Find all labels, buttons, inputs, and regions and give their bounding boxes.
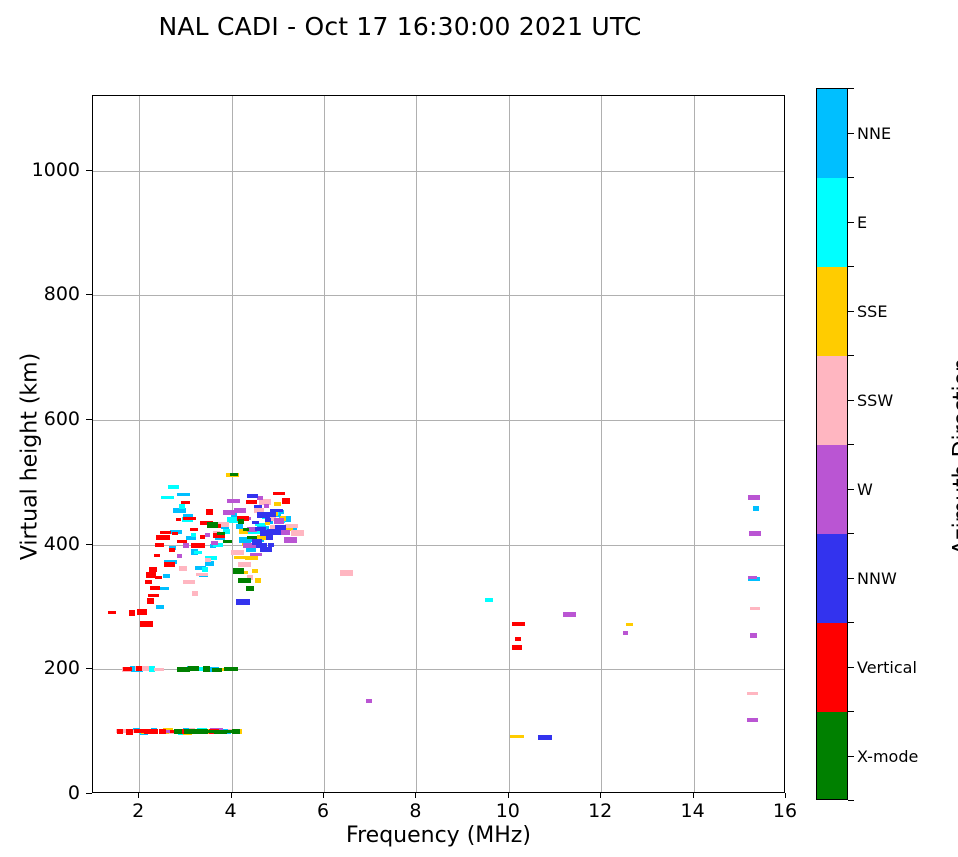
data-mark	[168, 485, 179, 489]
colorbar-label-nnw: NNW	[857, 569, 897, 588]
data-mark	[563, 612, 576, 617]
data-mark	[510, 735, 524, 738]
data-mark	[275, 525, 286, 530]
data-mark	[231, 550, 244, 555]
data-mark	[273, 492, 285, 495]
colorbar-tick	[848, 222, 854, 223]
data-mark	[512, 645, 522, 650]
colorbar-boundary-tick	[848, 622, 854, 623]
data-mark	[176, 518, 181, 521]
data-mark	[366, 699, 372, 703]
plot-area	[92, 95, 785, 793]
data-mark	[137, 609, 147, 615]
colorbar-label-nne: NNE	[857, 124, 891, 143]
data-mark	[155, 576, 162, 579]
data-mark	[191, 543, 205, 548]
data-mark	[747, 692, 758, 695]
colorbar-tick	[848, 133, 854, 134]
y-axis-tick	[86, 419, 92, 420]
colorbar-tick	[848, 311, 854, 312]
data-mark	[217, 532, 225, 535]
data-mark	[247, 494, 258, 498]
y-axis-tick	[86, 294, 92, 295]
x-axis-tick	[231, 793, 232, 798]
data-mark	[160, 531, 171, 534]
data-mark	[227, 499, 240, 503]
data-mark	[140, 621, 153, 627]
data-mark	[750, 607, 760, 610]
data-mark	[188, 666, 199, 671]
colorbar-label-vertical: Vertical	[857, 658, 917, 677]
data-mark	[156, 605, 164, 609]
data-mark	[243, 528, 249, 531]
data-mark	[203, 666, 210, 672]
data-mark	[207, 522, 218, 528]
data-mark	[274, 518, 284, 524]
colorbar-tick	[848, 756, 854, 757]
data-mark	[179, 566, 187, 571]
data-mark	[200, 535, 205, 539]
x-axis-tick-label: 12	[570, 800, 630, 822]
data-mark	[123, 667, 132, 671]
colorbar-label-w: W	[857, 480, 873, 499]
data-mark	[512, 622, 525, 626]
colorbar-segment-sse	[817, 267, 847, 356]
data-mark	[268, 512, 276, 517]
data-mark	[177, 540, 187, 543]
colorbar-boundary-tick	[848, 444, 854, 445]
data-mark	[177, 493, 190, 496]
data-mark	[147, 598, 154, 604]
x-axis-tick-label: 10	[478, 800, 538, 822]
data-mark	[246, 586, 254, 591]
x-axis-tick-label: 4	[201, 800, 261, 822]
data-mark	[232, 729, 240, 734]
data-mark	[223, 540, 232, 543]
data-mark	[485, 598, 493, 602]
data-mark	[154, 668, 164, 671]
x-axis-tick-label: 16	[755, 800, 815, 822]
data-mark	[177, 554, 182, 558]
data-mark	[270, 509, 283, 512]
data-mark	[144, 729, 158, 734]
colorbar-boundary-tick	[848, 533, 854, 534]
colorbar-segment-e	[817, 178, 847, 267]
data-mark	[260, 547, 272, 552]
colorbar-label-x-mode: X-mode	[857, 747, 918, 766]
data-mark	[159, 729, 166, 734]
data-mark	[205, 533, 210, 537]
data-mark	[154, 554, 160, 557]
y-axis-tick-label: 200	[0, 657, 80, 679]
data-mark	[183, 580, 195, 584]
y-axis-tick	[86, 668, 92, 669]
colorbar-boundary-tick	[848, 266, 854, 267]
data-mark	[268, 543, 274, 547]
data-mark	[212, 668, 222, 672]
data-mark	[234, 508, 246, 513]
colorbar-boundary-tick	[848, 177, 854, 178]
data-mark	[191, 533, 196, 537]
colorbar-label-e: E	[857, 213, 867, 232]
colorbar-boundary-tick	[848, 800, 854, 801]
x-axis-tick	[138, 793, 139, 798]
data-mark	[183, 543, 189, 548]
colorbar-title: Azimuth Direction	[950, 292, 958, 622]
data-mark	[236, 599, 250, 605]
data-mark	[136, 666, 142, 671]
colorbar-segment-nnw	[817, 534, 847, 623]
data-mark	[284, 537, 297, 543]
data-mark	[750, 633, 757, 638]
colorbar-segment-w	[817, 445, 847, 534]
data-mark	[266, 535, 273, 540]
data-mark	[183, 517, 196, 520]
data-mark	[245, 556, 258, 560]
x-axis-tick	[415, 793, 416, 798]
colorbar-boundary-tick	[848, 355, 854, 356]
colorbar-segment-nne	[817, 89, 847, 178]
data-mark	[129, 610, 135, 616]
x-axis-label: Frequency (MHz)	[92, 823, 785, 848]
colorbar-boundary-tick	[848, 88, 854, 89]
data-mark	[265, 518, 271, 522]
data-mark	[747, 718, 758, 722]
data-mark	[623, 631, 628, 635]
data-mark	[753, 506, 759, 511]
data-mark	[179, 504, 185, 509]
data-mark	[173, 508, 186, 513]
data-mark	[282, 498, 290, 504]
colorbar-label-ssw: SSW	[857, 391, 893, 410]
data-mark	[194, 551, 202, 554]
data-mark	[163, 574, 170, 578]
colorbar-segment-vertical	[817, 623, 847, 712]
data-mark	[238, 519, 244, 524]
data-mark	[196, 573, 208, 576]
data-mark	[252, 569, 258, 573]
data-mark	[238, 562, 251, 567]
x-axis-tick-label: 2	[108, 800, 168, 822]
colorbar-tick	[848, 400, 854, 401]
data-mark	[748, 576, 757, 579]
data-mark	[257, 496, 263, 500]
data-mark	[538, 735, 552, 740]
data-mark	[148, 594, 159, 597]
data-mark	[150, 586, 160, 590]
data-mark	[340, 570, 353, 576]
data-mark	[250, 553, 262, 556]
data-mark	[233, 568, 244, 574]
data-mark	[169, 548, 175, 552]
data-mark	[126, 729, 133, 735]
colorbar-segment-ssw	[817, 356, 847, 445]
data-mark	[202, 567, 208, 572]
data-mark	[174, 729, 182, 734]
data-mark	[254, 505, 262, 508]
data-mark	[117, 729, 123, 734]
data-mark	[267, 529, 281, 535]
data-mark	[156, 535, 170, 540]
data-mark	[280, 530, 290, 535]
data-mark	[161, 496, 174, 499]
x-axis-tick	[323, 793, 324, 798]
data-mark	[164, 562, 175, 567]
colorbar-label-sse: SSE	[857, 302, 887, 321]
data-mark	[246, 500, 257, 504]
x-axis-tick	[600, 793, 601, 798]
data-mark	[515, 637, 521, 641]
colorbar-tick	[848, 667, 854, 668]
data-mark	[238, 578, 251, 583]
data-mark	[748, 495, 760, 500]
data-mark	[247, 536, 257, 539]
y-axis-tick-label: 0	[0, 782, 80, 804]
data-mark	[190, 528, 198, 531]
data-mark	[291, 530, 304, 536]
page-title: NAL CADI - Oct 17 16:30:00 2021 UTC	[0, 12, 800, 41]
colorbar	[816, 88, 848, 800]
colorbar-tick	[848, 578, 854, 579]
colorbar-segment-x-mode	[817, 712, 847, 800]
y-axis-tick	[86, 544, 92, 545]
data-mark	[181, 501, 190, 504]
data-mark	[206, 509, 213, 515]
x-axis-tick	[508, 793, 509, 798]
data-mark	[626, 623, 633, 626]
data-mark	[230, 473, 238, 476]
data-mark	[211, 541, 218, 545]
colorbar-tick	[848, 489, 854, 490]
data-mark	[146, 572, 156, 578]
data-mark	[749, 531, 761, 536]
data-mark	[274, 502, 281, 506]
data-mark	[145, 580, 152, 584]
y-axis-tick	[86, 793, 92, 794]
data-mark	[192, 591, 198, 596]
colorbar-boundary-tick	[848, 711, 854, 712]
data-marks-layer	[93, 96, 784, 792]
data-mark	[172, 532, 178, 535]
data-mark	[285, 524, 298, 528]
data-mark	[252, 521, 259, 524]
y-axis-label: Virtual height (km)	[18, 292, 43, 622]
data-mark	[108, 611, 116, 614]
data-mark	[255, 578, 261, 583]
data-mark	[264, 504, 269, 508]
x-axis-tick-label: 6	[293, 800, 353, 822]
x-axis-tick-label: 8	[385, 800, 445, 822]
data-mark	[155, 543, 164, 547]
y-axis-tick	[86, 170, 92, 171]
x-axis-tick	[693, 793, 694, 798]
x-axis-tick	[785, 793, 786, 798]
y-axis-tick-label: 1000	[0, 159, 80, 181]
x-axis-tick-label: 14	[663, 800, 723, 822]
data-mark	[205, 558, 211, 562]
data-mark	[228, 667, 238, 671]
data-mark	[234, 556, 245, 559]
